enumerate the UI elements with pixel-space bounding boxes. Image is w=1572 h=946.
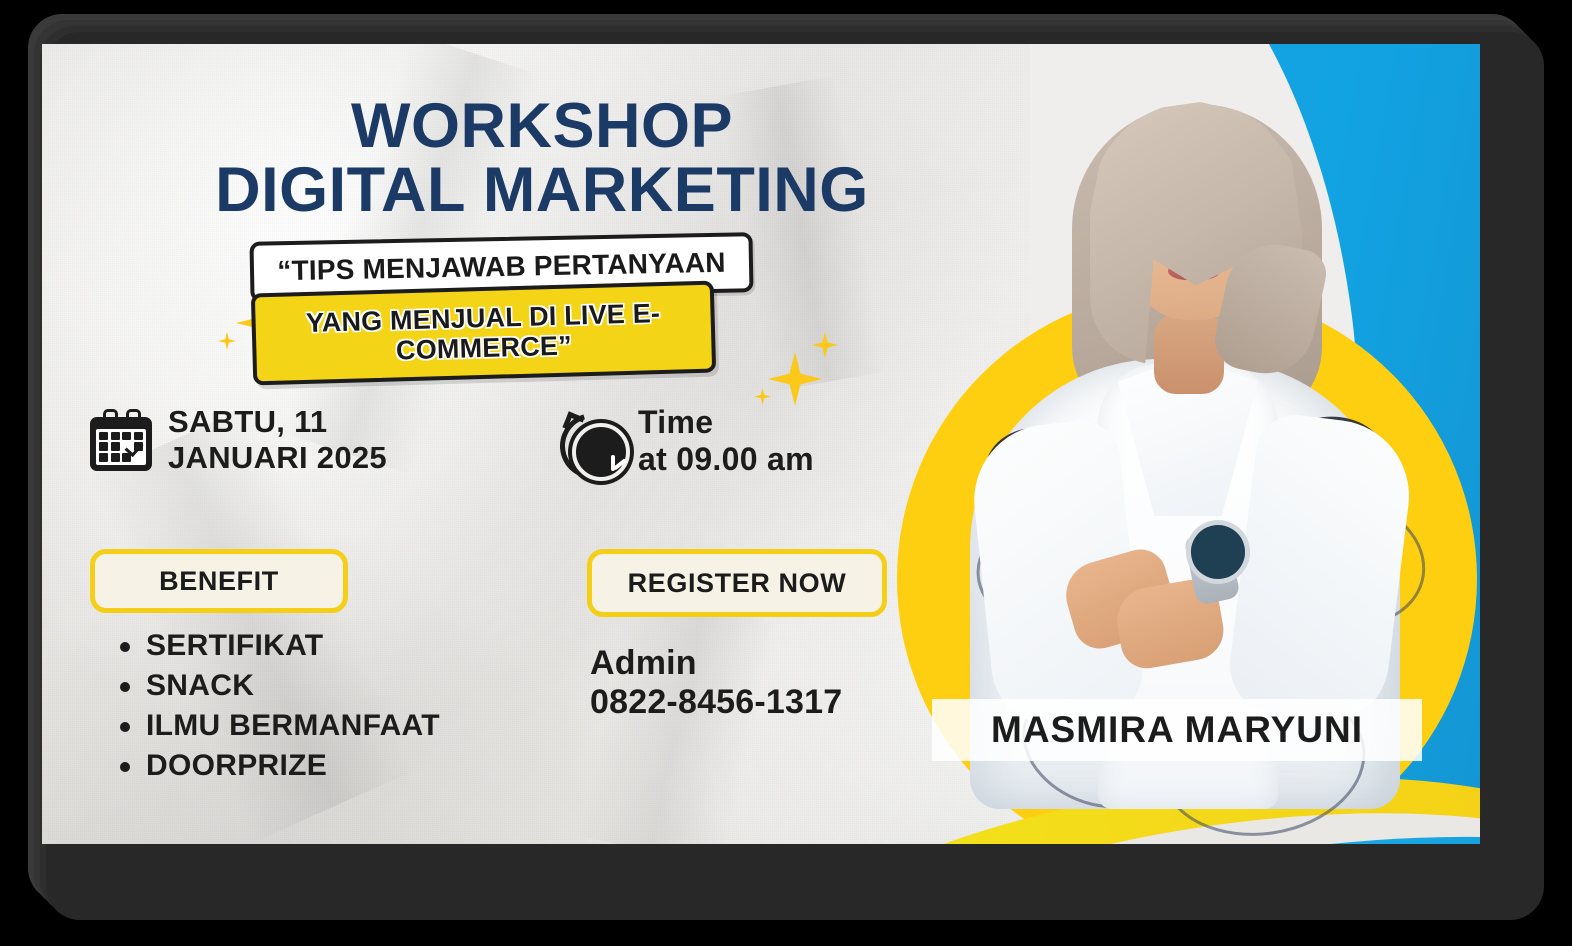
benefit-list-item: SNACK <box>146 666 606 706</box>
benefit-list-item: SERTIFIKAT <box>146 626 606 666</box>
event-date-block: SABTU, 11 JANUARI 2025 <box>90 404 387 475</box>
subtitle-yellow-box: YANG MENJUAL DI LIVE E-COMMERCE” <box>251 281 716 386</box>
benefit-list-item: ILMU BERMANFAAT <box>146 706 606 746</box>
speaker-portrait-photo <box>922 64 1442 809</box>
headline-line-2: DIGITAL MARKETING <box>162 158 922 222</box>
benefit-badge: BENEFIT <box>90 549 348 613</box>
event-time-line-2: at 09.00 am <box>638 441 814 478</box>
admin-phone-number[interactable]: 0822-8456-1317 <box>590 683 842 722</box>
event-time-block: Time at 09.00 am <box>560 404 814 478</box>
subtitle-yellow-text: YANG MENJUAL DI LIVE E-COMMERCE” <box>255 296 712 369</box>
poster-headline: WORKSHOP DIGITAL MARKETING <box>162 94 922 223</box>
event-time-line-1: Time <box>638 404 713 440</box>
speaker-name-banner: MASMIRA MARYUNI <box>932 699 1422 761</box>
event-date-line-2: JANUARI 2025 <box>168 440 387 476</box>
portrait-neck <box>1154 314 1224 394</box>
workshop-poster: WORKSHOP DIGITAL MARKETING “TIPS MENJAWA… <box>42 44 1480 844</box>
speaker-name: MASMIRA MARYUNI <box>991 709 1363 751</box>
admin-contact: Admin 0822-8456-1317 <box>590 644 842 722</box>
benefit-badge-label: BENEFIT <box>159 566 279 597</box>
register-now-label: REGISTER NOW <box>628 568 847 599</box>
clock-icon <box>560 410 622 472</box>
admin-label: Admin <box>590 644 697 682</box>
benefit-list: SERTIFIKAT SNACK ILMU BERMANFAAT DOORPRI… <box>104 626 606 786</box>
event-date-text: SABTU, 11 JANUARI 2025 <box>168 404 387 475</box>
event-time-text: Time at 09.00 am <box>638 404 814 478</box>
benefit-list-item: DOORPRIZE <box>146 746 606 786</box>
headline-line-1: WORKSHOP <box>162 94 922 158</box>
screenshot-canvas: WORKSHOP DIGITAL MARKETING “TIPS MENJAWA… <box>0 0 1572 946</box>
register-now-button[interactable]: REGISTER NOW <box>587 549 887 617</box>
calendar-icon <box>90 409 152 471</box>
event-date-line-1: SABTU, 11 <box>168 404 327 439</box>
